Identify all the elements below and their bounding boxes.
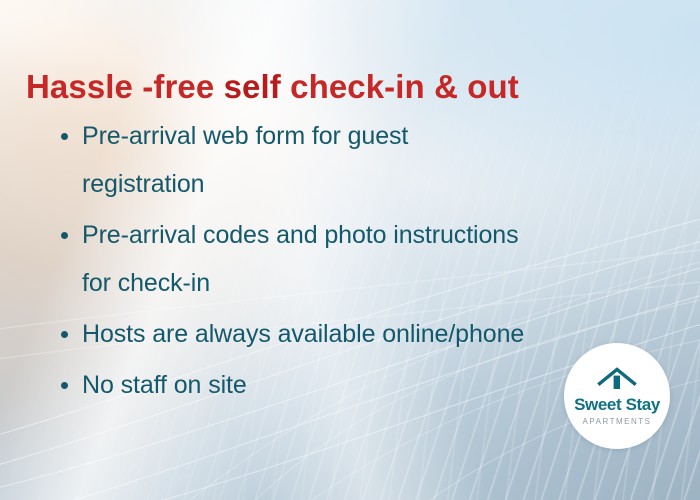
list-item-label: Pre-arrival codes and photo instructions… <box>82 221 519 297</box>
list-item: Hosts are always available online/phone <box>56 310 526 358</box>
slide: Hassle -free self check-in & out Pre-arr… <box>0 0 700 500</box>
feature-list: Pre-arrival web form for guest registrat… <box>56 112 526 412</box>
list-item-label: No staff on site <box>82 371 247 399</box>
bullet-dot-icon <box>61 331 68 338</box>
list-item-label: Pre-arrival web form for guest registrat… <box>82 122 408 198</box>
brand-name: Sweet Stay <box>574 395 660 414</box>
title-part-after: check-in & out <box>281 68 519 105</box>
list-item: Pre-arrival codes and photo instructions… <box>56 211 526 307</box>
list-item: Pre-arrival web form for guest registrat… <box>56 112 526 208</box>
slide-content: Hassle -free self check-in & out Pre-arr… <box>0 0 700 500</box>
brand-subtitle: APARTMENTS <box>583 416 652 428</box>
list-item: No staff on site <box>56 361 526 409</box>
title-part-before: Hassle -free <box>26 68 224 105</box>
title-emphasis: self <box>224 68 281 105</box>
bullet-dot-icon <box>61 133 68 140</box>
list-item-label: Hosts are always available online/phone <box>82 320 524 348</box>
house-roof-icon <box>597 366 637 392</box>
page-title: Hassle -free self check-in & out <box>26 67 519 107</box>
bullet-dot-icon <box>61 382 68 389</box>
bullet-dot-icon <box>61 232 68 239</box>
brand-logo-badge: Sweet Stay APARTMENTS <box>564 343 670 449</box>
